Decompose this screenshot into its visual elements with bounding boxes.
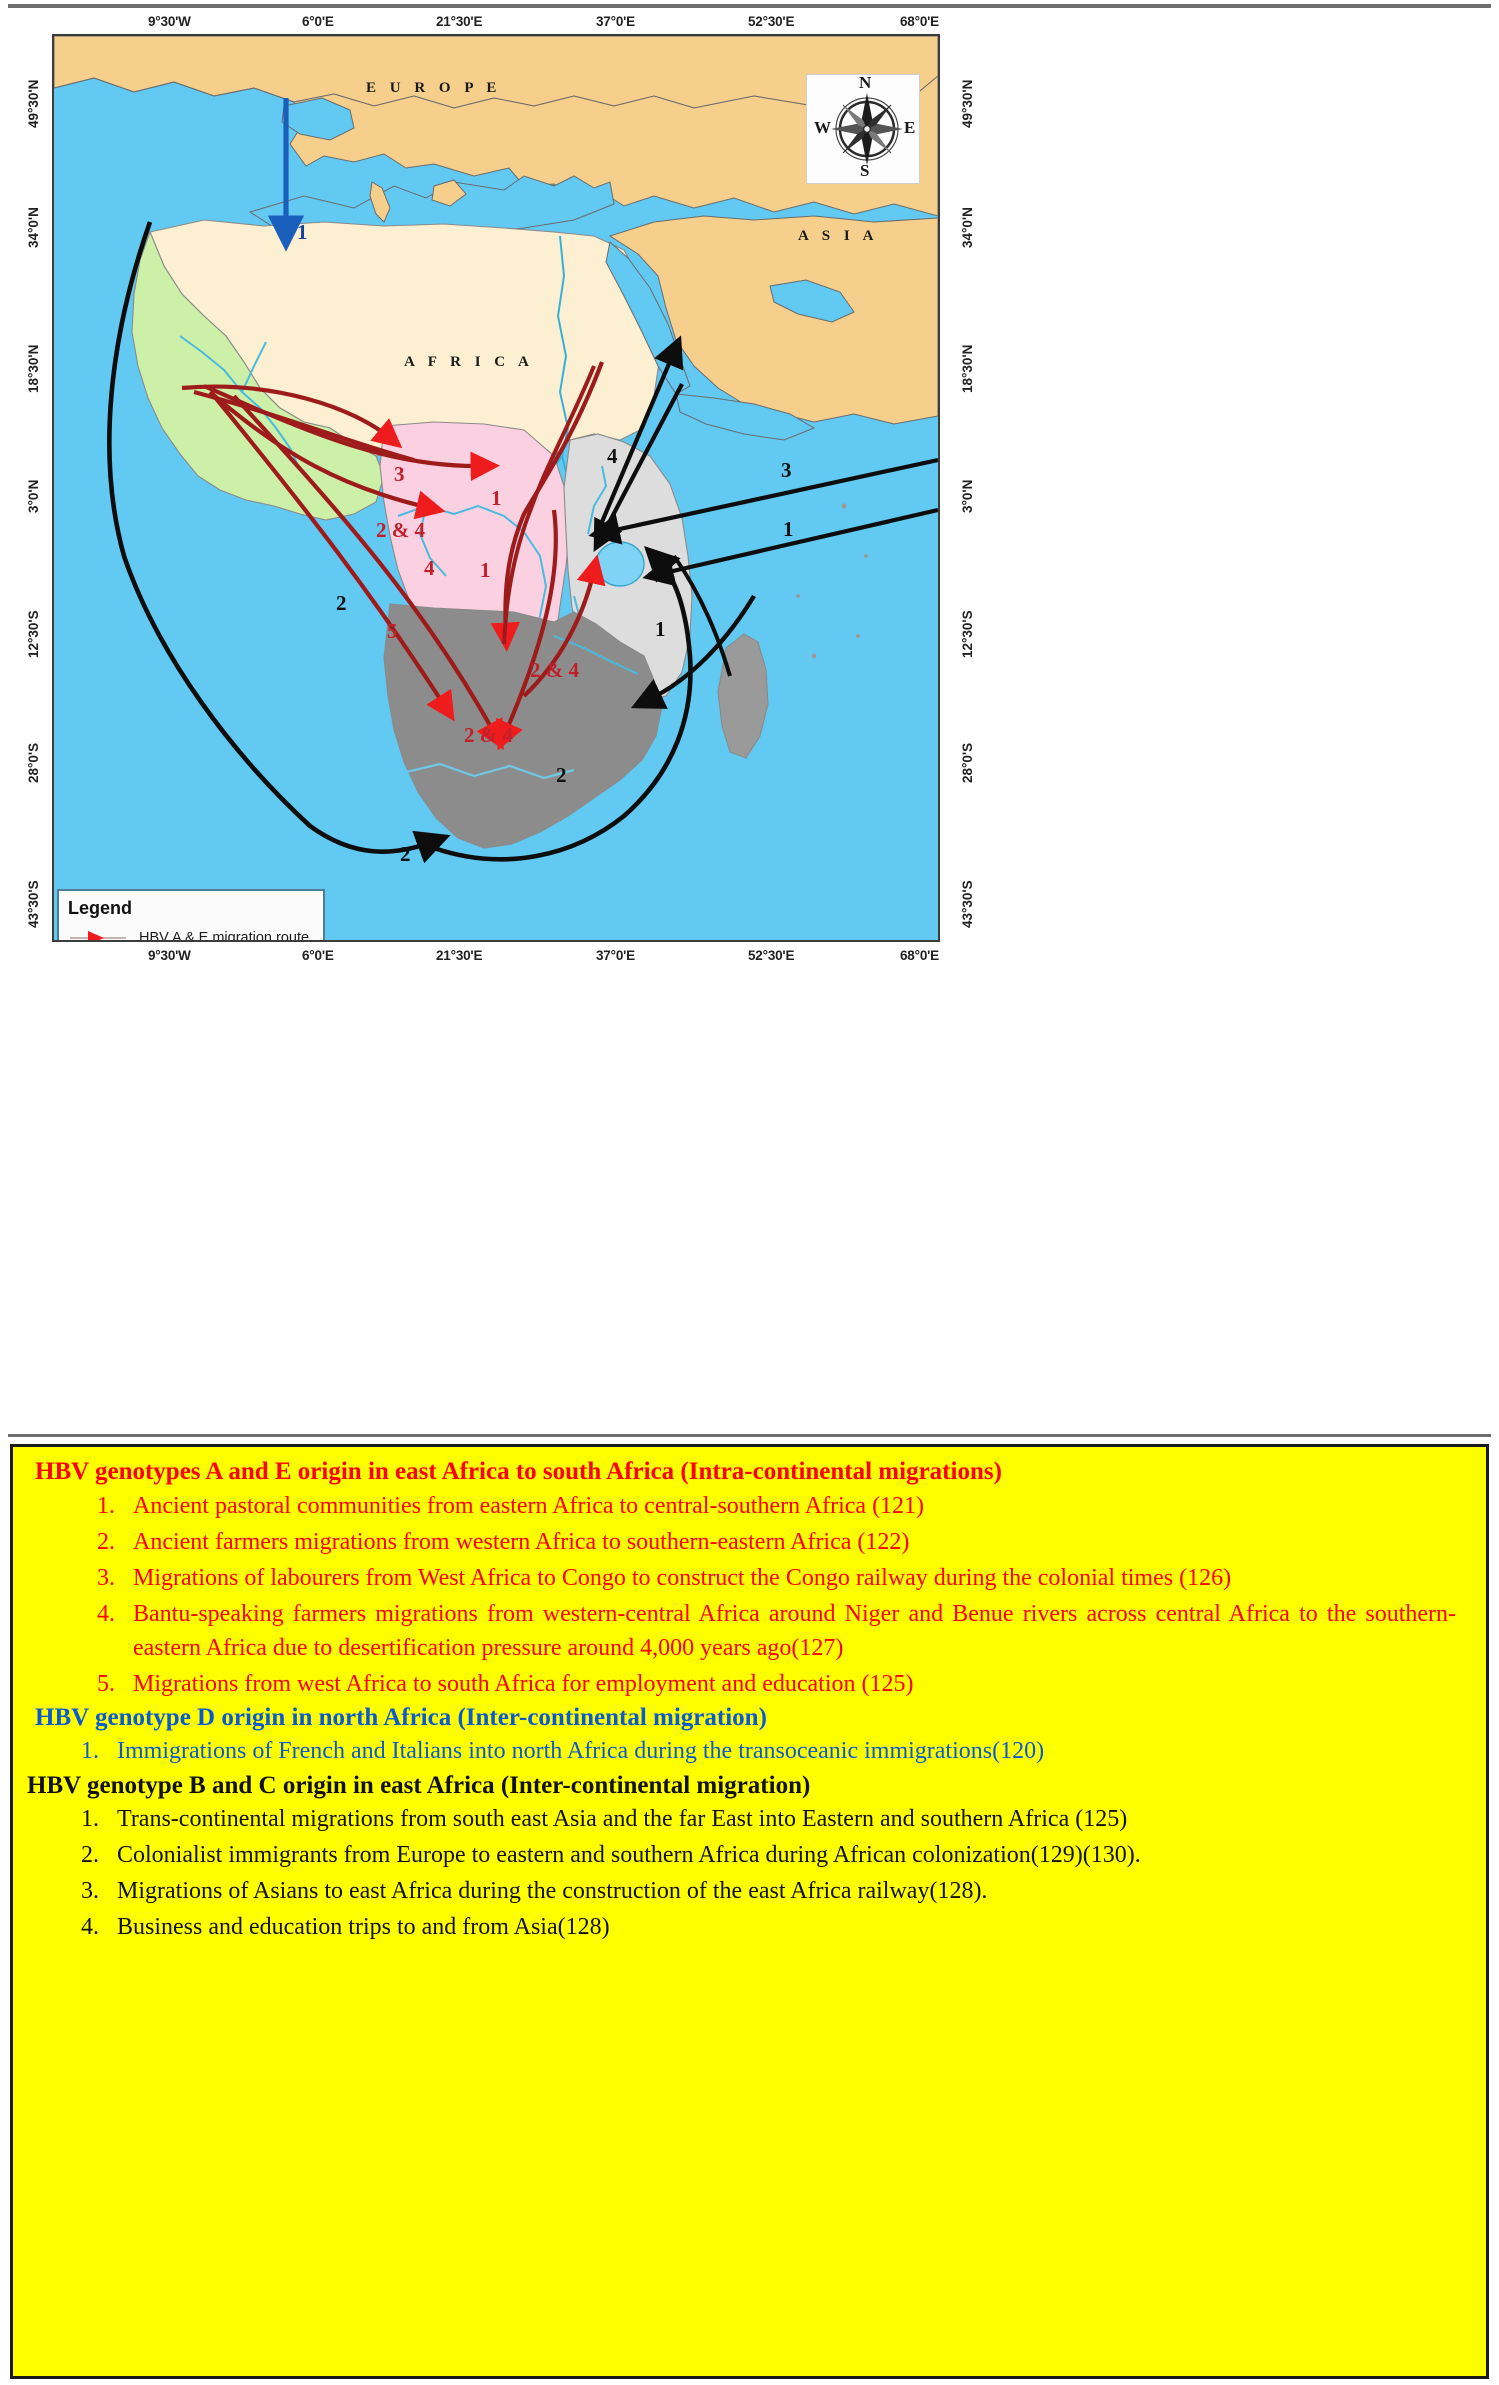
lon-label-bottom-0: 9°30'W bbox=[148, 948, 191, 963]
note-item-ae-5: Migrations from west Africa to south Afr… bbox=[121, 1667, 1472, 1701]
label-africa: A F R I C A bbox=[404, 354, 534, 371]
route-number-red-3: 3 bbox=[394, 464, 405, 485]
notes-list-genotype-ae: Ancient pastoral communities from easter… bbox=[79, 1489, 1472, 1701]
lon-label-bottom-2: 21°30'E bbox=[436, 948, 482, 963]
notes-list-genotype-bc: Trans-continental migrations from south … bbox=[63, 1802, 1472, 1944]
note-item-ae-2: Ancient farmers migrations from western … bbox=[121, 1525, 1472, 1559]
route-number-red-2and4-east: 2 & 4 bbox=[530, 660, 579, 681]
lon-label-top-4: 52°30'E bbox=[748, 14, 794, 29]
lon-label-top-2: 21°30'E bbox=[436, 14, 482, 29]
notes-heading-genotype-d: HBV genotype D origin in north Africa (I… bbox=[35, 1703, 1472, 1733]
notes-heading-genotype-ae: HBV genotypes A and E origin in east Afr… bbox=[35, 1457, 1472, 1487]
note-item-bc-2: Colonialist immigrants from Europe to ea… bbox=[105, 1838, 1357, 1872]
lon-label-top-5: 68°0'E bbox=[900, 14, 939, 29]
map-canvas[interactable]: E U R O P E A S I A A F R I C A bbox=[52, 34, 940, 942]
legend-title: Legend bbox=[68, 898, 323, 919]
lon-label-bottom-3: 37°0'E bbox=[596, 948, 635, 963]
lat-label-right-2: 18°30'N bbox=[960, 345, 975, 393]
note-item-d-1: Immigrations of French and Italians into… bbox=[105, 1734, 1237, 1768]
lat-label-right-3: 3°0'N bbox=[960, 480, 975, 513]
route-number-red-1-upper: 1 bbox=[491, 488, 502, 509]
lat-label-left-2: 18°30'N bbox=[26, 345, 41, 393]
lon-label-bottom-4: 52°30'E bbox=[748, 948, 794, 963]
label-asia: A S I A bbox=[798, 228, 878, 245]
lat-label-left-4: 12°30'S bbox=[26, 610, 41, 658]
route-number-black-1-mozambique: 1 bbox=[655, 619, 666, 640]
lat-label-left-1: 34°0'N bbox=[26, 207, 41, 248]
lat-label-right-4: 12°30'S bbox=[960, 610, 975, 658]
lon-label-top-0: 9°30'W bbox=[148, 14, 191, 29]
route-number-black-2-west: 2 bbox=[336, 593, 347, 614]
route-number-red-2and4-south: 2 & 4 bbox=[464, 725, 513, 746]
route-number-red-1-lower: 1 bbox=[480, 560, 491, 581]
lon-label-top-1: 6°0'E bbox=[302, 14, 334, 29]
compass-label-south: S bbox=[860, 161, 869, 181]
route-number-black-1-indian: 1 bbox=[783, 519, 794, 540]
route-number-blue-1: 1 bbox=[297, 222, 308, 243]
note-item-ae-1: Ancient pastoral communities from easter… bbox=[121, 1489, 1472, 1523]
route-number-black-2-southeast: 2 bbox=[556, 765, 567, 786]
lon-label-top-3: 37°0'E bbox=[596, 14, 635, 29]
lat-label-left-6: 43°30'S bbox=[26, 880, 41, 928]
lon-label-bottom-5: 68°0'E bbox=[900, 948, 939, 963]
note-item-bc-3: Migrations of Asians to east Africa duri… bbox=[105, 1874, 1297, 1908]
lat-label-left-3: 3°0'N bbox=[26, 480, 41, 513]
route-number-black-2-cape: 2 bbox=[400, 844, 411, 865]
note-item-ae-3: Migrations of labourers from West Africa… bbox=[121, 1561, 1472, 1595]
note-item-ae-4: Bantu-speaking farmers migrations from w… bbox=[121, 1597, 1472, 1665]
route-number-black-4-horn: 4 bbox=[607, 446, 618, 467]
lat-label-right-6: 43°30'S bbox=[960, 880, 975, 928]
route-number-red-2and4-central: 2 & 4 bbox=[376, 520, 425, 541]
legend-label-hbv-ae: HBV A & E migration route bbox=[139, 930, 309, 942]
compass-label-west: W bbox=[814, 118, 831, 138]
lat-label-right-1: 34°0'N bbox=[960, 207, 975, 248]
compass-rose: N S W E bbox=[806, 74, 920, 184]
migration-notes-box: HBV genotypes A and E origin in east Afr… bbox=[10, 1444, 1489, 2379]
notes-heading-genotype-bc: HBV genotype B and C origin in east Afri… bbox=[27, 1771, 1472, 1801]
lat-label-right-0: 49°30'N bbox=[960, 80, 975, 128]
route-number-black-3-indian: 3 bbox=[781, 460, 792, 481]
note-item-bc-1: Trans-continental migrations from south … bbox=[105, 1802, 1357, 1836]
map-legend: Legend HBV A & E migration route bbox=[57, 889, 325, 942]
lat-label-left-0: 49°30'N bbox=[26, 80, 41, 128]
legend-row-hbv-ae: HBV A & E migration route bbox=[59, 923, 323, 942]
lat-label-left-5: 28°0'S bbox=[26, 743, 41, 783]
route-number-red-4-central: 4 bbox=[424, 558, 435, 579]
notes-list-genotype-d: Immigrations of French and Italians into… bbox=[63, 1734, 1472, 1768]
compass-label-east: E bbox=[904, 118, 915, 138]
figure-root: 9°30'W 6°0'E 21°30'E 37°0'E 52°30'E 68°0… bbox=[0, 0, 1499, 2385]
label-europe: E U R O P E bbox=[366, 80, 501, 97]
map-panel: 9°30'W 6°0'E 21°30'E 37°0'E 52°30'E 68°0… bbox=[8, 4, 1491, 1437]
note-item-bc-4: Business and education trips to and from… bbox=[105, 1910, 1472, 1944]
compass-label-north: N bbox=[859, 73, 871, 93]
lat-label-right-5: 28°0'S bbox=[960, 743, 975, 783]
lon-label-bottom-1: 6°0'E bbox=[302, 948, 334, 963]
hbv-ae-arrow-icon bbox=[68, 927, 130, 942]
route-number-red-5: 5 bbox=[387, 621, 398, 642]
